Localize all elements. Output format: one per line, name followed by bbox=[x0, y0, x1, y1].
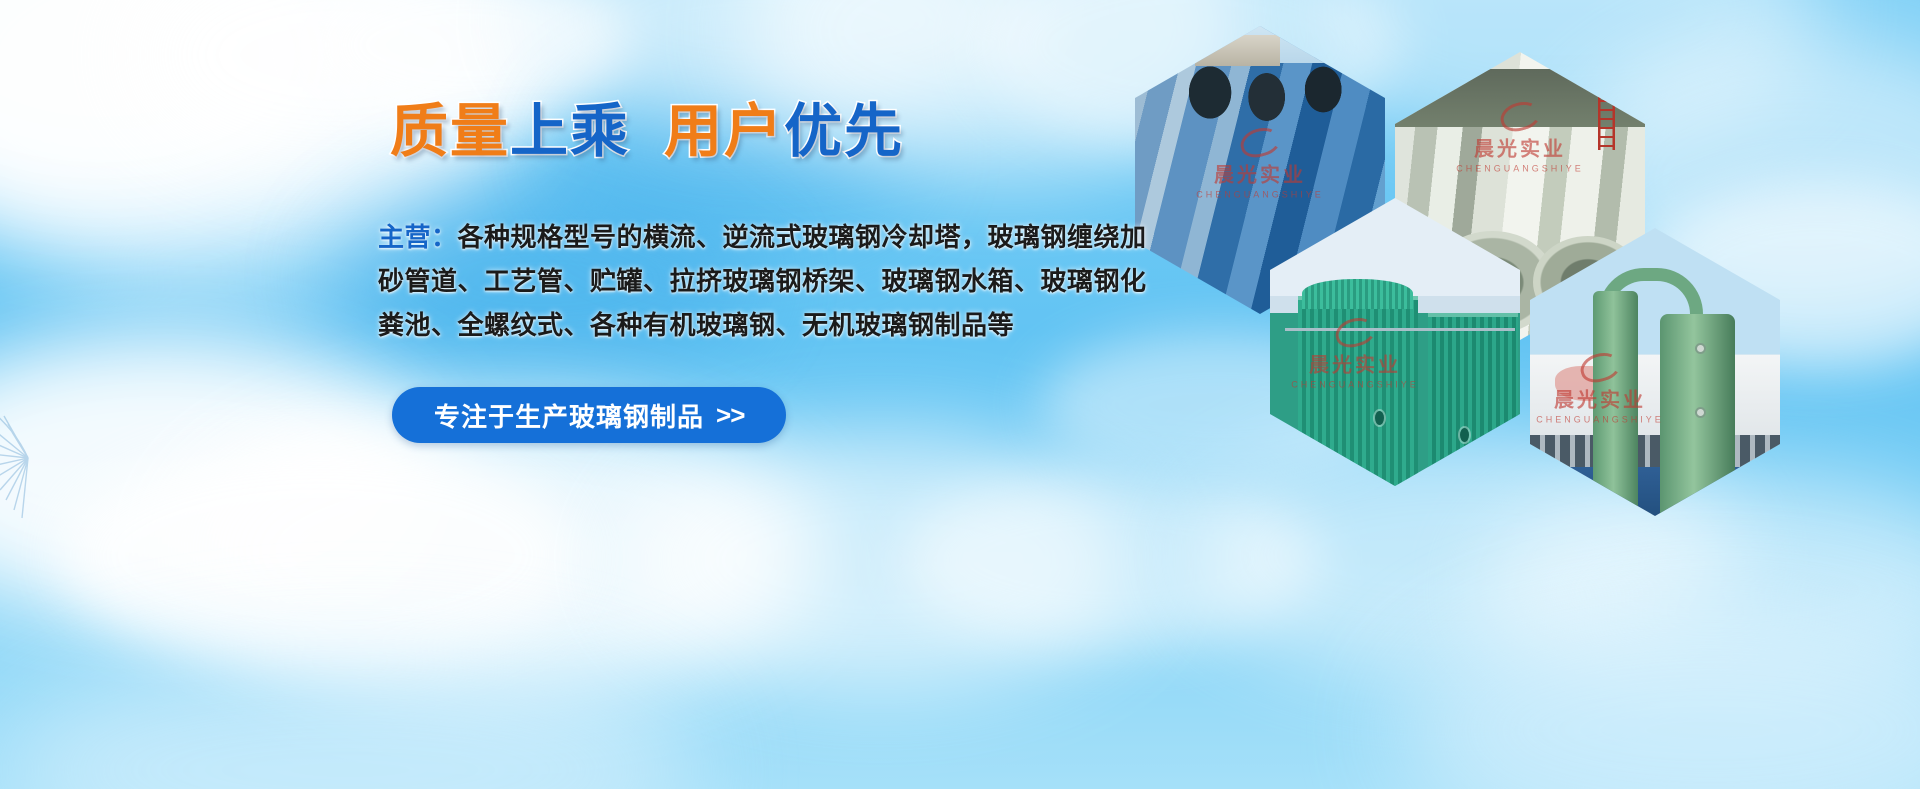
headline-segment-1: 质量 bbox=[390, 96, 510, 169]
palm-frond-icon bbox=[0, 400, 56, 520]
headline-segment-3: 用户 bbox=[664, 96, 784, 169]
photo-railing bbox=[1285, 328, 1515, 331]
headline-spacer bbox=[630, 96, 664, 169]
headline-segment-2: 上乘 bbox=[510, 96, 630, 169]
photo-port-1 bbox=[1375, 411, 1384, 425]
banner-text-column: 质量上乘 用户优先 主营：各种规格型号的横流、逆流式玻璃钢冷却塔，玻璃钢缠绕加 … bbox=[378, 96, 1138, 443]
description-lead-label: 主营： bbox=[378, 222, 458, 252]
headline-segment-4: 优先 bbox=[784, 96, 904, 169]
product-hexagon-collage: 晨光实业 CHENGUANGSHIYE 晨光实业 CHENGUANGSHIYE bbox=[1125, 10, 1865, 430]
photo-tower-2 bbox=[1428, 313, 1518, 486]
description-line-1: 主营：各种规格型号的横流、逆流式玻璃钢冷却塔，玻璃钢缠绕加 bbox=[378, 215, 1138, 259]
photo-red-ladder bbox=[1598, 64, 1616, 150]
photo-factory-windows bbox=[1530, 435, 1780, 467]
headline: 质量上乘 用户优先 bbox=[390, 96, 1138, 169]
photo-pipe-openings bbox=[1175, 55, 1370, 130]
description-line-1-text: 各种规格型号的横流、逆流式玻璃钢冷却塔，玻璃钢缠绕加 bbox=[458, 222, 1147, 252]
cta-button[interactable]: 专注于生产玻璃钢制品 >> bbox=[392, 387, 786, 443]
description-line-2: 砂管道、工艺管、贮罐、拉挤玻璃钢桥架、玻璃钢水箱、玻璃钢化 bbox=[378, 259, 1138, 303]
photo-scrubber-column-a bbox=[1593, 291, 1638, 516]
promo-banner: 晨光实业 CHENGUANGSHIYE 晨光实业 CHENGUANGSHIYE bbox=[0, 0, 1920, 789]
photo-tower-1 bbox=[1298, 296, 1418, 486]
description-line-3: 粪池、全螺纹式、各种有机玻璃钢、无机玻璃钢制品等 bbox=[378, 303, 1138, 347]
cta-label: 专注于生产玻璃钢制品 bbox=[434, 397, 704, 434]
cta-arrows: >> bbox=[716, 400, 744, 431]
photo-nozzle-2 bbox=[1695, 407, 1706, 418]
photo-factory-base bbox=[1530, 467, 1780, 516]
description-block: 主营：各种规格型号的横流、逆流式玻璃钢冷却塔，玻璃钢缠绕加 砂管道、工艺管、贮罐… bbox=[378, 215, 1138, 348]
